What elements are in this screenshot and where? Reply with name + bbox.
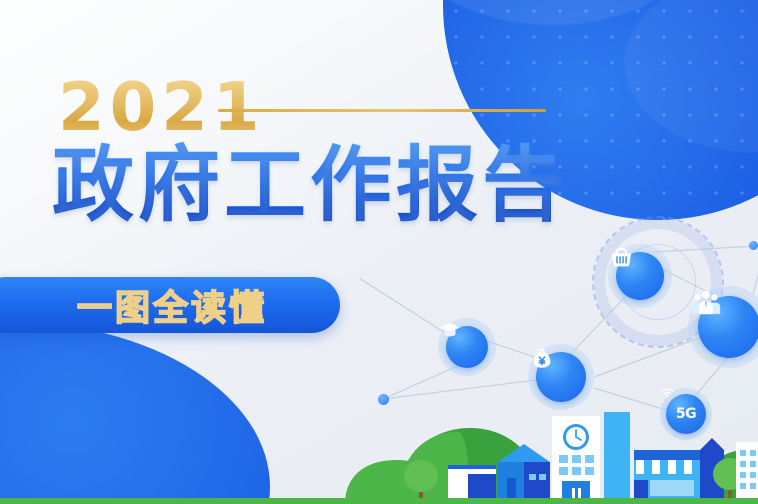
graduation-cap-icon xyxy=(438,318,462,342)
shop-window xyxy=(650,480,694,496)
city-illustration xyxy=(0,394,758,504)
tower-tall xyxy=(604,412,630,504)
node-education[interactable] xyxy=(438,318,496,376)
tree-crown xyxy=(404,460,438,492)
house-window xyxy=(539,474,546,480)
poster-canvas: 2021 政府工作报告 一图全读懂 xyxy=(0,0,758,504)
node-consumption[interactable] xyxy=(608,244,672,308)
read-in-one-chart-badge[interactable]: 一图全读懂 xyxy=(0,277,340,333)
house-window xyxy=(529,474,536,480)
year-label: 2021 xyxy=(58,74,264,141)
money-bag-yuan-icon xyxy=(528,344,556,372)
shop-roof xyxy=(634,450,706,460)
house-right-wall xyxy=(524,462,550,504)
city-skyline xyxy=(0,394,758,504)
warehouse-roof xyxy=(448,465,496,469)
network-dot xyxy=(749,241,758,250)
people-group-icon xyxy=(688,286,724,322)
badge-label: 一图全读懂 xyxy=(77,280,267,331)
gold-divider-line xyxy=(218,109,546,112)
shopping-basket-icon xyxy=(608,244,635,271)
page-title: 政府工作报告 xyxy=(52,140,568,232)
ground-strip xyxy=(0,498,758,504)
